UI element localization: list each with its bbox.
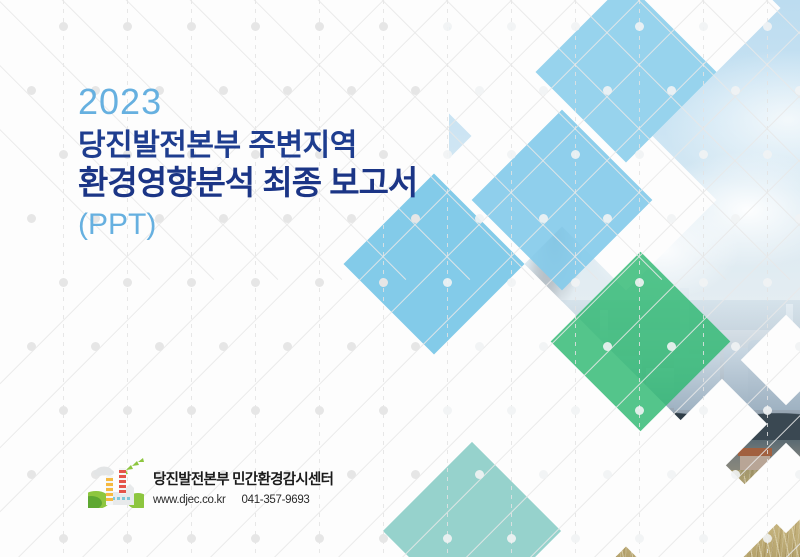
cover-main-title: 환경영향분석 최종 보고서 <box>78 165 417 202</box>
cover-year: 2023 <box>78 84 417 120</box>
organization-name: 당진발전본부 민간환경감시센터 <box>153 473 333 489</box>
factory-icon <box>88 458 144 508</box>
contact-info: www.djec.co.kr 041-357-9693 <box>153 494 333 506</box>
title-block: 2023 당진발전본부 주변지역 환경영향분석 최종 보고서 (PPT) <box>78 84 417 243</box>
organization-logo: 당진발전본부 민간환경감시센터 www.djec.co.kr 041-357-9… <box>88 458 333 508</box>
website-url: www.djec.co.kr <box>153 494 226 506</box>
cover-subtitle: 당진발전본부 주변지역 <box>78 129 417 163</box>
phone-number: 041-357-9693 <box>242 494 310 506</box>
cover-format-note: (PPT) <box>78 207 417 243</box>
report-cover: 2023 당진발전본부 주변지역 환경영향분석 최종 보고서 (PPT) <box>0 0 800 557</box>
logo-text-block: 당진발전본부 민간환경감시센터 www.djec.co.kr 041-357-9… <box>153 473 333 508</box>
